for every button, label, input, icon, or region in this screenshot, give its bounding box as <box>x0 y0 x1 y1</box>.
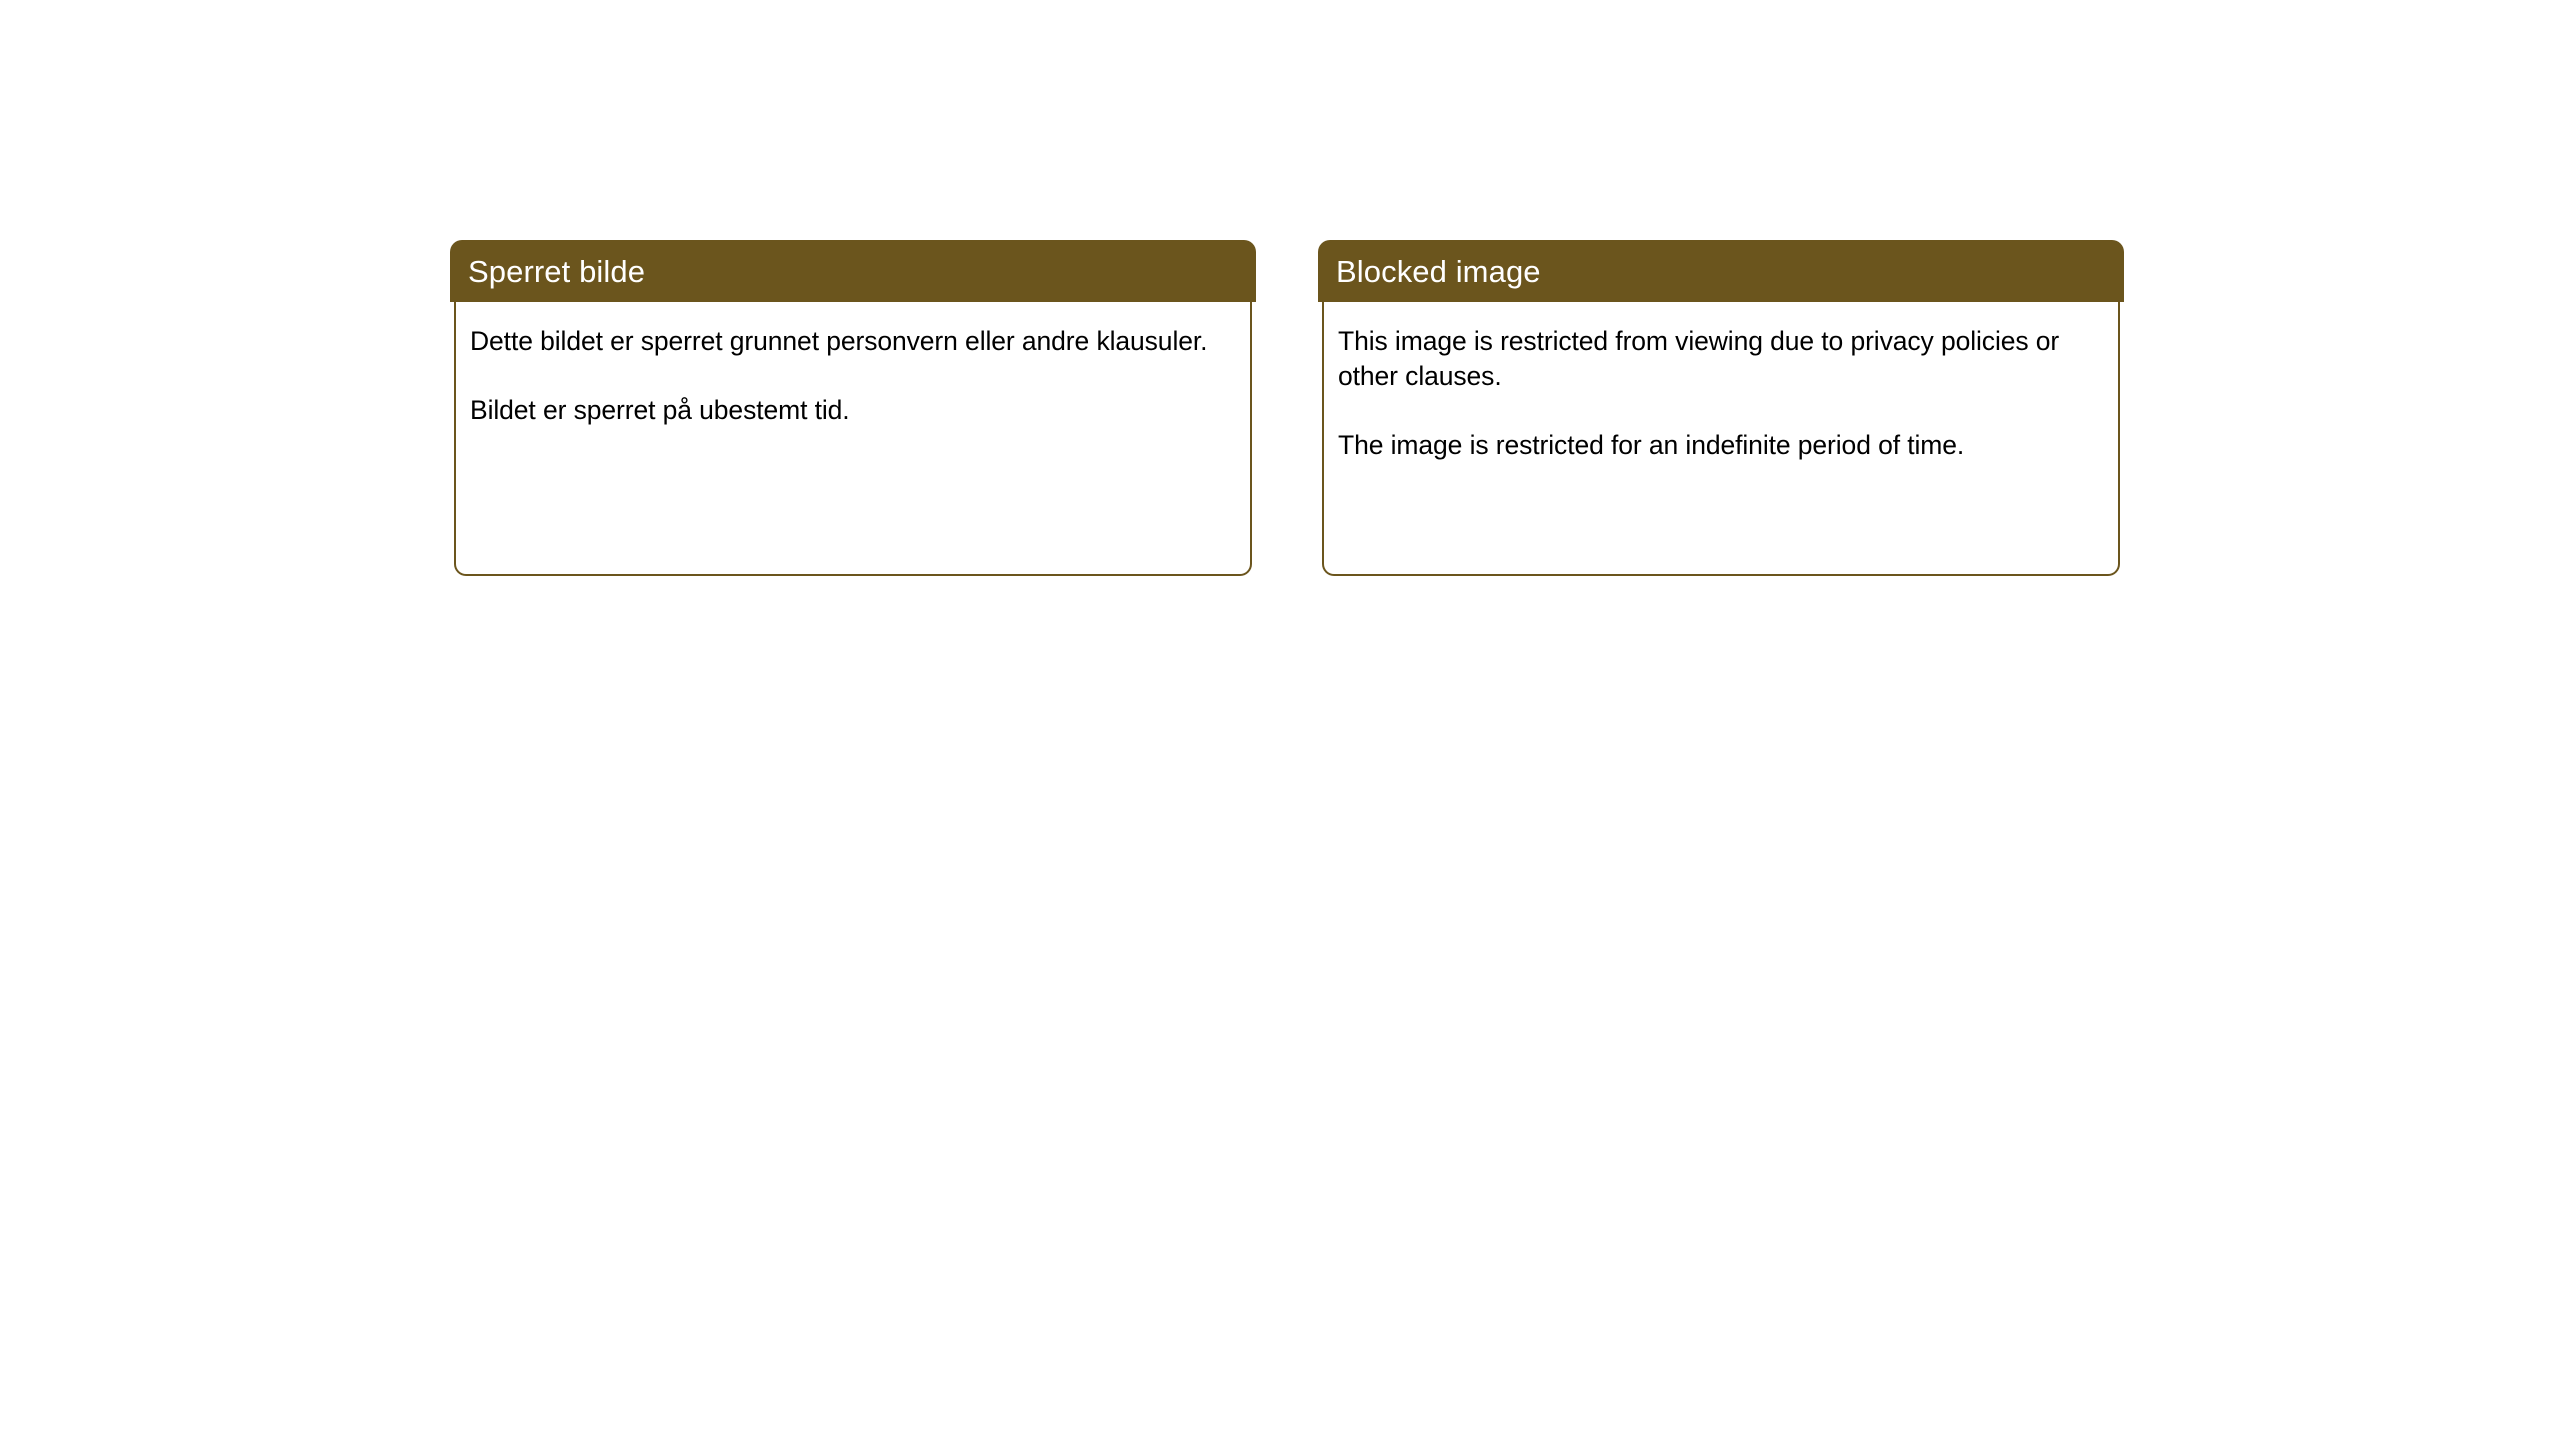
blocked-image-notice-english: Blocked image This image is restricted f… <box>1318 240 2124 580</box>
panel-title: Blocked image <box>1318 256 1541 287</box>
page-canvas: Sperret bilde Dette bildet er sperret gr… <box>0 0 2560 1440</box>
blocked-image-notice-norwegian: Sperret bilde Dette bildet er sperret gr… <box>450 240 1256 580</box>
notice-paragraph-primary: Dette bildet er sperret grunnet personve… <box>470 324 1232 359</box>
panel-title: Sperret bilde <box>450 256 645 287</box>
notice-paragraph-primary: This image is restricted from viewing du… <box>1338 324 2100 394</box>
notice-paragraph-secondary: Bildet er sperret på ubestemt tid. <box>470 393 1232 428</box>
notice-header-bar: Blocked image <box>1318 240 2124 302</box>
notice-message-area: Dette bildet er sperret grunnet personve… <box>454 302 1252 576</box>
notice-paragraph-secondary: The image is restricted for an indefinit… <box>1338 428 2100 463</box>
notice-header-bar: Sperret bilde <box>450 240 1256 302</box>
notice-message-area: This image is restricted from viewing du… <box>1322 302 2120 576</box>
